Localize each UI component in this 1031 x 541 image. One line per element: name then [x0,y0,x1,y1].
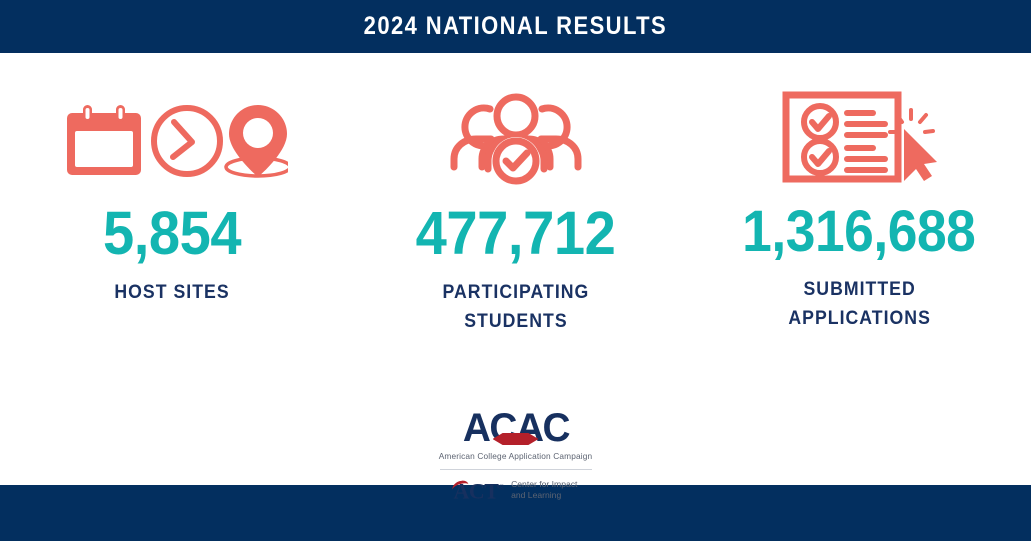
participants-group-check-icon [446,89,586,185]
logo-divider [440,469,592,470]
act-registered-mark: ® [498,483,504,492]
calendar-icon [67,105,141,175]
stat-value: 1,316,688 [743,203,976,261]
stat-block-host-sites: 5,854 HOST SITES [0,87,344,337]
main-content: 5,854 HOST SITES [0,53,1031,485]
host-sites-icons [56,91,288,183]
logo-block: ACAC American College Application Campai… [436,408,596,502]
stat-label: SUBMITTED APPLICATIONS [788,275,931,334]
icon-group-host-sites [56,87,288,187]
map-pin-icon [226,105,288,177]
stat-block-submitted-applications: 1,316,688 SUBMITTED APPLICATIONS [687,87,1031,337]
checklist-cursor-icon [780,89,938,185]
icon-group-submitted-applications [780,87,938,187]
acac-logo: ACAC [440,408,592,448]
act-tagline: Center for Impact and Learning [511,479,577,500]
stat-label: HOST SITES [114,278,229,307]
stat-value: 477,712 [416,203,616,264]
page-title: 2024 NATIONAL RESULTS [364,12,667,41]
icon-group-participating-students [446,87,586,187]
header-bar: 2024 NATIONAL RESULTS [0,0,1031,53]
stat-label: PARTICIPATING STUDENTS [442,278,589,337]
acac-tagline: American College Application Campaign [439,451,593,461]
act-logo: ACT® Center for Impact and Learning [454,477,578,502]
clock-icon [154,108,220,174]
logo-lockup: ACAC American College Application Campai… [0,408,1031,502]
stat-block-participating-students: 477,712 PARTICIPATING STUDENTS [344,87,688,337]
infographic-canvas: 2024 NATIONAL RESULTS [0,0,1031,541]
stat-value: 5,854 [103,203,241,264]
stats-row: 5,854 HOST SITES [0,53,1031,337]
act-wordmark: ACT® [454,477,505,502]
